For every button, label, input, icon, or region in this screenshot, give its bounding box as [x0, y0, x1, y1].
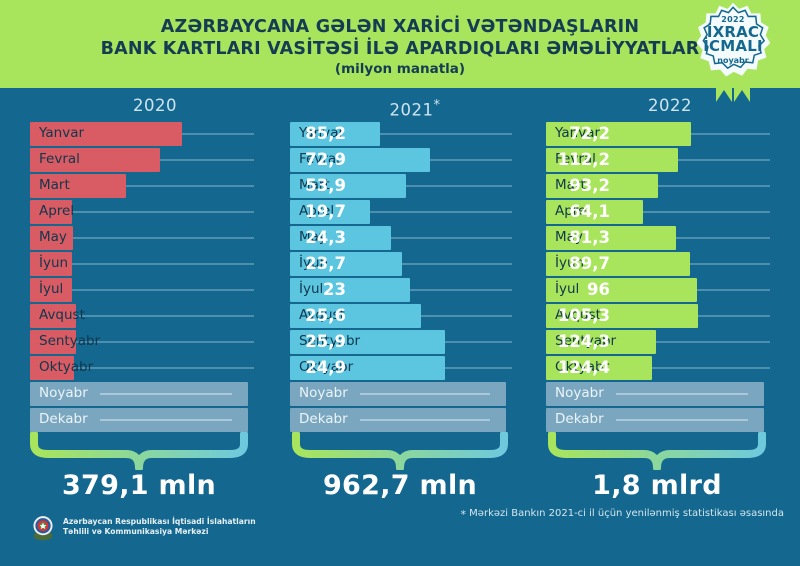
bar-row: Sentyabr25,9: [30, 330, 280, 354]
value-label: 81,3: [569, 226, 610, 250]
column-year-label-2021: 2021*: [290, 96, 540, 122]
leader-line: [360, 393, 490, 395]
value-label: 89,7: [569, 252, 610, 276]
leader-line: [100, 419, 232, 421]
month-label: Noyabr: [555, 382, 604, 406]
badge-month: noyabr: [717, 56, 748, 65]
month-label: Mart: [39, 174, 70, 198]
value-label: 64,1: [569, 200, 610, 224]
leader-line: [652, 367, 770, 369]
total-value-2022: 1,8 mlrd: [548, 470, 766, 501]
footnote-star: *: [460, 508, 466, 521]
value-label: 72,9: [305, 148, 346, 172]
ixrac-icmali-badge: 2022 İXRAC İCMALI noyabr: [690, 2, 776, 106]
bar-row: Noyabr: [546, 382, 794, 406]
value-label: 24,9: [305, 356, 346, 380]
month-label: İyul: [299, 278, 323, 302]
footnote: * Mərkəzi Bankın 2021-ci il üçün yenilən…: [460, 508, 784, 521]
badge-text: 2022 İXRAC İCMALI noyabr: [695, 2, 771, 78]
value-label: 112,2: [558, 148, 610, 172]
total-value-2020: 379,1 mln: [30, 470, 248, 501]
leader-line: [445, 341, 512, 343]
leader-line: [100, 393, 232, 395]
leader-line: [360, 419, 490, 421]
value-label: 72,2: [569, 122, 610, 146]
leader-line: [410, 289, 512, 291]
month-label: Dekabr: [299, 408, 348, 432]
leader-line: [656, 341, 770, 343]
leader-line: [616, 419, 748, 421]
page-subtitle: (milyon manatla): [0, 61, 800, 77]
brace-icon-2022: [548, 432, 766, 470]
value-label: 96: [587, 278, 610, 302]
leader-line: [76, 315, 254, 317]
bar-rows-2020: Yanvar85,2Fevral72,9Mart53,9Aprel19,7May…: [30, 122, 280, 432]
organization-name: Azərbaycan Respublikası İqtisadi İslahat…: [63, 517, 256, 537]
bar-row: Yanvar85,2: [30, 122, 280, 146]
value-label: 23: [323, 278, 346, 302]
leader-line: [73, 237, 254, 239]
bar-row: May24,3: [30, 226, 280, 250]
bar-row: Noyabr: [30, 382, 280, 406]
value-label: 53,9: [305, 174, 346, 198]
leader-line: [402, 263, 512, 265]
month-label: İyul: [39, 278, 63, 302]
bar-row: İyun23,7: [30, 252, 280, 276]
leader-line: [678, 159, 770, 161]
leader-line: [445, 367, 512, 369]
bar-row: Aprel19,7: [30, 200, 280, 224]
leader-line: [160, 159, 254, 161]
month-label: Avqust: [39, 304, 85, 328]
bar-row: İyul23: [30, 278, 280, 302]
organization-name-line-2: Təhlili və Kommunikasiya Mərkəzi: [63, 527, 256, 537]
leader-line: [406, 185, 512, 187]
value-label: 124,3: [558, 330, 610, 354]
leader-line: [380, 133, 512, 135]
page-title: AZƏRBAYCANA GƏLƏN XARİCİ VƏTƏNDAŞLARIN B…: [0, 16, 800, 60]
month-label: Oktyabr: [39, 356, 93, 380]
month-label: Aprel: [39, 200, 74, 224]
column-year-label-2020: 2020: [30, 96, 280, 122]
month-label: Fevral: [39, 148, 80, 172]
leader-line: [72, 263, 254, 265]
value-label: 25,9: [305, 330, 346, 354]
month-label: Noyabr: [299, 382, 348, 406]
total-value-2021: 962,7 mln: [292, 470, 508, 501]
value-label: 93,2: [569, 174, 610, 198]
value-label: 124,4: [558, 356, 610, 380]
month-label: İyul: [555, 278, 579, 302]
brace-icon-2020: [30, 432, 248, 470]
leader-line: [690, 263, 770, 265]
leader-line: [72, 289, 254, 291]
month-label: Dekabr: [39, 408, 88, 432]
value-label: 85,2: [305, 122, 346, 146]
month-label: Yanvar: [39, 122, 84, 146]
value-label: 25,6: [305, 304, 346, 328]
bar-row: Dekabr: [290, 408, 540, 432]
leader-line: [676, 237, 770, 239]
bar-row: Avqust25,6: [30, 304, 280, 328]
bar-row: Fevral72,9: [30, 148, 280, 172]
value-label: 19,7: [305, 200, 346, 224]
leader-line: [698, 315, 770, 317]
value-label: 23,7: [305, 252, 346, 276]
month-label: Sentyabr: [39, 330, 100, 354]
month-label: İyun: [39, 252, 68, 276]
bar-row: Dekabr: [30, 408, 280, 432]
page-title-line-2: BANK KARTLARI VASİTƏSİ İLƏ APARDIQLARI Ə…: [0, 38, 800, 60]
leader-line: [182, 133, 254, 135]
chart-column-2020: 2020 Yanvar85,2Fevral72,9Mart53,9Aprel19…: [30, 96, 280, 434]
bar-row: İyul213,6: [546, 278, 794, 302]
header-banner: AZƏRBAYCANA GƏLƏN XARİCİ VƏTƏNDAŞLARIN B…: [0, 0, 800, 88]
leader-line: [391, 237, 512, 239]
organization-name-line-1: Azərbaycan Respublikası İqtisadi İslahat…: [63, 517, 256, 527]
month-label: Dekabr: [555, 408, 604, 432]
state-emblem-icon: [30, 513, 56, 541]
leader-line: [421, 315, 512, 317]
bar-row: Noyabr: [290, 382, 540, 406]
leader-line: [126, 185, 254, 187]
leader-line: [616, 393, 748, 395]
month-label: Noyabr: [39, 382, 88, 406]
value-label: 105,3: [558, 304, 610, 328]
leader-line: [74, 367, 254, 369]
column-year-label-2022: 2022: [546, 96, 794, 122]
page-title-line-1: AZƏRBAYCANA GƏLƏN XARİCİ VƏTƏNDAŞLARIN: [0, 16, 800, 38]
leader-line: [370, 211, 512, 213]
value-label: 24,3: [305, 226, 346, 250]
month-label: May: [39, 226, 67, 250]
bar-row: Mart53,9: [30, 174, 280, 198]
leader-line: [697, 289, 770, 291]
organization-footer: Azərbaycan Respublikası İqtisadi İslahat…: [30, 513, 256, 541]
leader-line: [658, 185, 770, 187]
leader-line: [72, 211, 254, 213]
leader-line: [643, 211, 770, 213]
footnote-text: Mərkəzi Bankın 2021-ci il üçün yenilənmi…: [469, 508, 784, 519]
leader-line: [76, 341, 254, 343]
bar-row: Dekabr: [546, 408, 794, 432]
brace-icon-2021: [292, 432, 508, 470]
bar-row: Oktyabr24,9: [30, 356, 280, 380]
leader-line: [691, 133, 770, 135]
badge-line-2: İCMALI: [703, 39, 762, 54]
leader-line: [430, 159, 512, 161]
